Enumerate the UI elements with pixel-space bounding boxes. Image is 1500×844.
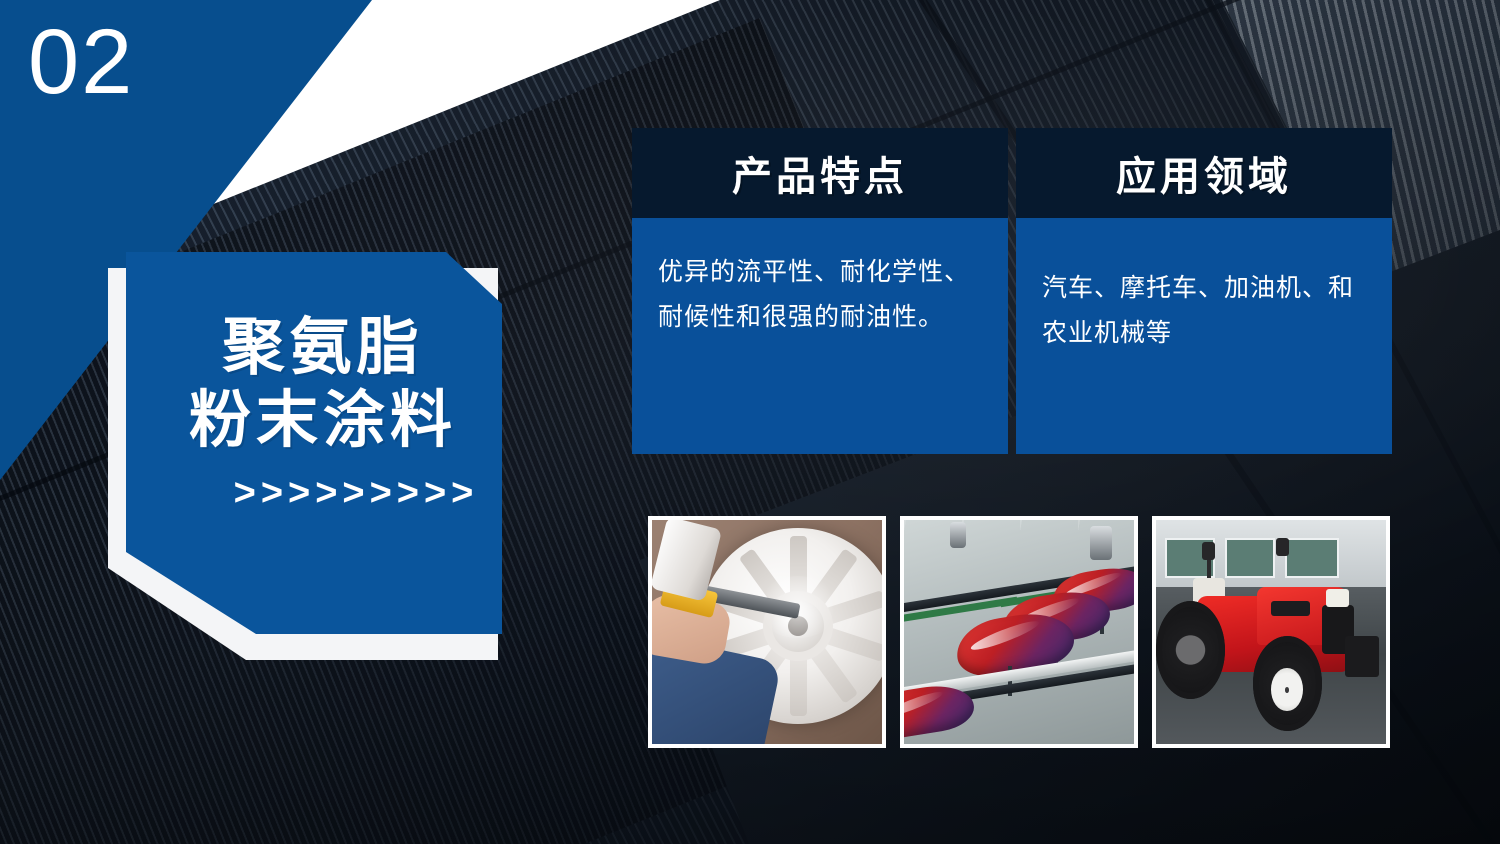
photo-frame-1 [648, 516, 886, 748]
info-card-group: 产品特点 优异的流平性、耐化学性、耐候性和很强的耐油性。 应用领域 汽车、摩托车… [632, 128, 1392, 454]
card-application-fields: 应用领域 汽车、摩托车、加油机、和农业机械等 [1016, 128, 1392, 454]
card-application-fields-heading: 应用领域 [1116, 144, 1292, 202]
tractor-headlamp [1326, 589, 1349, 607]
photo-red-tractor [1156, 520, 1386, 744]
card-product-features-heading: 产品特点 [732, 144, 908, 202]
title-line-1: 聚氨脂 [144, 310, 502, 383]
tractor-front-tire [1253, 636, 1322, 730]
tractor-mirror-right [1276, 538, 1289, 556]
tractor-front-weights [1345, 636, 1380, 676]
card-product-features: 产品特点 优异的流平性、耐化学性、耐候性和很强的耐油性。 [632, 128, 1008, 454]
tractor-hood-vent [1271, 601, 1310, 617]
card-application-fields-body: 汽车、摩托车、加油机、和农业机械等 [1016, 218, 1392, 454]
card-product-features-body: 优异的流平性、耐化学性、耐候性和很强的耐油性。 [632, 218, 1008, 454]
photo-motorcycle-tanks-paint-line [904, 520, 1134, 744]
tractor-mirror-left [1202, 542, 1215, 560]
photo-frame-2 [900, 516, 1138, 748]
title-card: 聚氨脂 粉末涂料 >>>>>>>>> [126, 252, 502, 634]
card-application-fields-text: 汽车、摩托车、加油机、和农业机械等 [1042, 266, 1366, 355]
card-product-features-header: 产品特点 [632, 128, 1008, 218]
title-line-2: 粉末涂料 [144, 383, 502, 456]
photo-frame-3 [1152, 516, 1390, 748]
photo-strip [648, 516, 1390, 748]
card-application-fields-header: 应用领域 [1016, 128, 1392, 218]
tractor-rear-tire [1156, 601, 1225, 700]
title-arrows: >>>>>>>>> [144, 474, 502, 512]
slide-root: 02 聚氨脂 粉末涂料 >>>>>>>>> 产品特点 优异的流平性、耐化学性、耐… [0, 0, 1500, 844]
ceiling-nozzle [950, 522, 966, 548]
paint-robot-nozzle [1090, 526, 1112, 560]
section-number: 02 [28, 16, 134, 108]
photo-powder-coating-alloy-wheel [652, 520, 882, 744]
card-product-features-text: 优异的流平性、耐化学性、耐候性和很强的耐油性。 [658, 250, 982, 339]
